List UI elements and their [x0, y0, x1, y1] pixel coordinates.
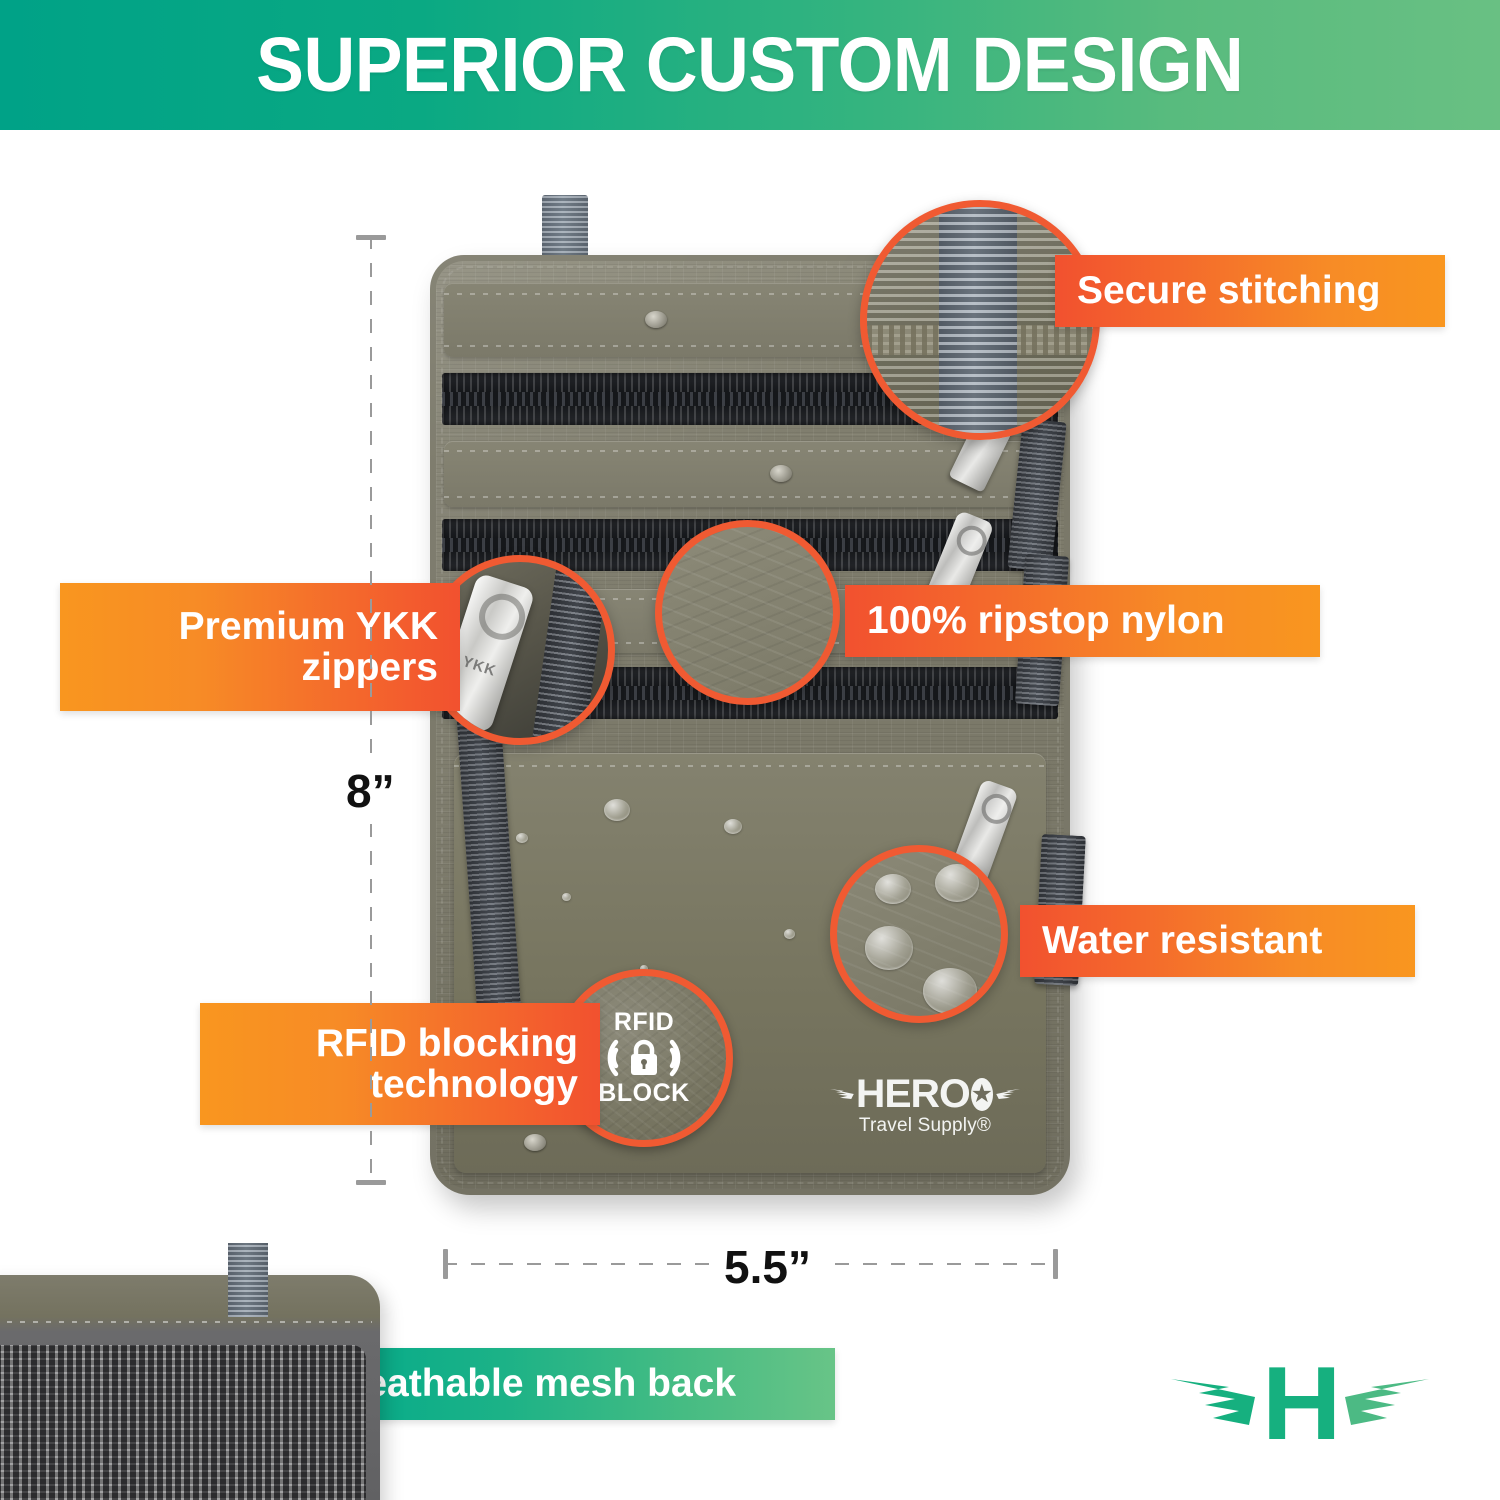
callout-water-resistant: Water resistant	[1020, 905, 1415, 977]
rfid-badge-top-label: RFID	[614, 1010, 674, 1035]
callout-label: Water resistant	[1042, 920, 1322, 961]
callout-label-line1: Premium YKK	[179, 606, 438, 647]
callout-label-line1: RFID blocking	[316, 1023, 578, 1064]
brand-subtitle: Travel Supply®	[830, 1115, 1020, 1137]
footer-brand-logo: H	[1155, 1345, 1445, 1465]
product-brand-logo: HERO ★ Travel Supply®	[830, 1074, 1020, 1137]
lanyard-strap	[228, 1243, 268, 1317]
rfid-badge-bottom-label: BLOCK	[598, 1081, 689, 1106]
callout-label-line2: technology	[316, 1064, 578, 1105]
star-icon: ★	[971, 1078, 993, 1111]
callout-secure-stitching: Secure stitching	[1055, 255, 1445, 327]
callout-label: Breathable mesh back	[322, 1363, 736, 1404]
callout-rfid-blocking: RFID blocking technology	[200, 1003, 600, 1125]
height-dimension-line	[370, 235, 372, 1185]
mesh-back-product-image	[0, 1275, 380, 1500]
magnifier-ripstop-nylon	[655, 520, 840, 705]
infographic-canvas: SUPERIOR CUSTOM DESIGN	[0, 0, 1500, 1500]
callout-ripstop-nylon: 100% ripstop nylon	[845, 585, 1320, 657]
header-banner: SUPERIOR CUSTOM DESIGN	[0, 0, 1500, 130]
wing-icon	[995, 1082, 1020, 1106]
wing-icon	[1336, 1365, 1431, 1445]
rivet	[645, 311, 667, 328]
callout-breathable-mesh: Breathable mesh back	[300, 1348, 835, 1420]
callout-label-line2: zippers	[179, 647, 438, 688]
lock-icon	[623, 1038, 665, 1078]
rivet	[770, 465, 792, 482]
brand-word: HERO	[856, 1074, 970, 1114]
mesh-texture	[0, 1345, 366, 1500]
height-dimension-label: 8”	[338, 758, 403, 824]
callout-label: Secure stitching	[1077, 270, 1380, 311]
magnifier-water-resistant	[830, 845, 1008, 1023]
wing-icon	[1169, 1365, 1264, 1445]
page-title: SUPERIOR CUSTOM DESIGN	[256, 21, 1243, 110]
width-dimension-label: 5.5”	[712, 1236, 823, 1298]
wing-icon	[830, 1082, 855, 1106]
brand-letter: H	[1262, 1361, 1337, 1448]
callout-ykk-zippers: Premium YKK zippers	[60, 583, 460, 711]
signal-wave-icon	[668, 1038, 702, 1078]
callout-label: 100% ripstop nylon	[867, 600, 1225, 641]
